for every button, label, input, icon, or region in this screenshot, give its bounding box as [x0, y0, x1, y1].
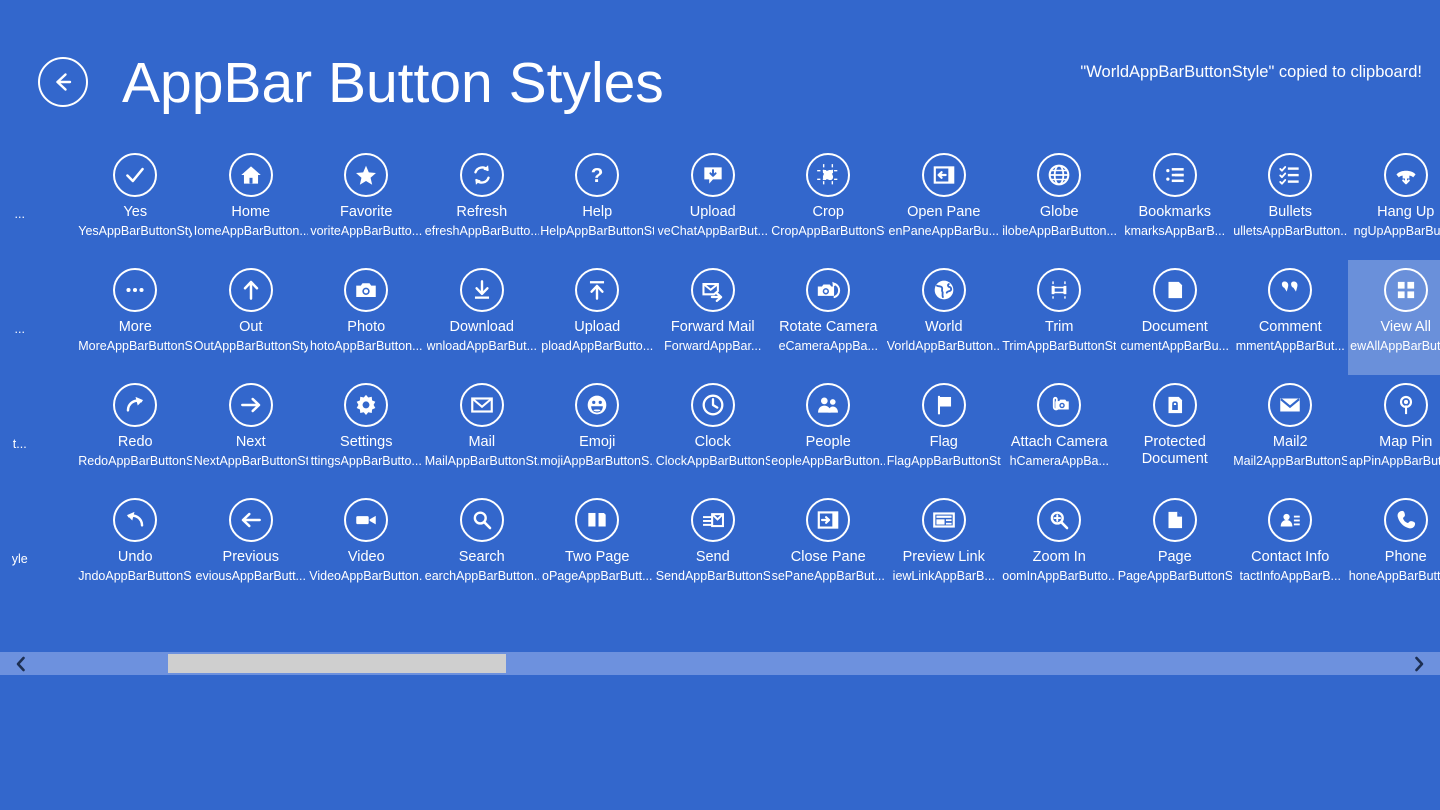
chevron-left-icon[interactable]	[0, 652, 42, 675]
redo-icon	[113, 383, 157, 427]
zoom-in-icon	[1037, 498, 1081, 542]
live-chat-icon	[691, 153, 735, 197]
icon-cell-label: Video	[348, 549, 385, 566]
icon-cell-yes[interactable]: YesYesAppBarButtonStyle	[78, 145, 194, 260]
comment-icon	[1268, 268, 1312, 312]
icon-cell-people[interactable]: PeopleeopleAppBarButton...	[771, 375, 887, 490]
icon-cell-style-name: hCameraAppBa...	[1010, 454, 1109, 469]
icon-cell-style-name: ttingsAppBarButto...	[311, 454, 422, 469]
icon-cell-label: Search	[459, 549, 505, 566]
icon-cell-style-name: oomInAppBarButto...	[1002, 569, 1116, 584]
icon-cell-trim[interactable]: TrimTrimAppBarButtonSt...	[1002, 260, 1118, 375]
icon-cell-mail[interactable]: MailMailAppBarButtonSt...	[424, 375, 540, 490]
icon-cell-style-name: VorldAppBarButton...	[887, 339, 1001, 354]
icon-cell-rotate-camera[interactable]: Rotate CameraeCameraAppBa...	[771, 260, 887, 375]
attach-camera-icon	[1037, 383, 1081, 427]
hang-up-icon	[1384, 153, 1428, 197]
icon-cell-label: Next	[236, 434, 266, 451]
icon-cell-style-name: SendAppBarButtonSt...	[656, 569, 770, 584]
icon-cell-label: Trim	[1045, 319, 1073, 336]
icon-cell-download[interactable]: DownloadwnloadAppBarBut...	[424, 260, 540, 375]
icon-cell-style-name: kmarksAppBarB...	[1124, 224, 1225, 239]
icon-cell-undo[interactable]: UndoJndoAppBarButtonS...	[78, 490, 194, 605]
icon-cell-style-name: tactInfoAppBarB...	[1240, 569, 1341, 584]
icon-cell-protected-document[interactable]: Protected Document	[1117, 375, 1233, 490]
icon-cell-label: Crop	[813, 204, 844, 221]
back-button[interactable]	[38, 57, 88, 107]
globe-icon	[1037, 153, 1081, 197]
previous-arrow-icon	[229, 498, 273, 542]
scrollbar-thumb[interactable]	[168, 654, 506, 673]
icon-cell-mail2[interactable]: Mail2Mail2AppBarButtonS...	[1233, 375, 1349, 490]
icon-cell-label: Clock	[695, 434, 731, 451]
icon-cell-label: Refresh	[456, 204, 507, 221]
icon-cell-style-name: veChatAppBarBut...	[658, 224, 768, 239]
people-icon	[806, 383, 850, 427]
icon-cell-style-name: ...	[15, 207, 25, 222]
next-arrow-icon	[229, 383, 273, 427]
icon-cell-label: People	[806, 434, 851, 451]
icon-cell-settings[interactable]: SettingsttingsAppBarButto...	[309, 375, 425, 490]
icon-cell-cell[interactable]: ...	[0, 145, 78, 260]
icon-cell-map-pin[interactable]: Map PinapPinAppBarButto...	[1348, 375, 1440, 490]
phone-icon	[1384, 498, 1428, 542]
two-page-icon	[575, 498, 619, 542]
map-pin-icon	[1384, 383, 1428, 427]
icon-cell-label: Settings	[340, 434, 392, 451]
icon-cell-zoom-in[interactable]: Zoom InoomInAppBarButto...	[1002, 490, 1118, 605]
icon-cell-style-name: hotoAppBarButton...	[310, 339, 423, 354]
icon-cell-two-page[interactable]: Two PageoPageAppBarButt...	[540, 490, 656, 605]
icon-grid-row: t...RedoRedoAppBarButtonS...NextNextAppB…	[0, 375, 1440, 490]
icon-cell-view-all[interactable]: View AllewAllAppBarButto...	[1348, 260, 1440, 375]
icon-cell-contact-info[interactable]: Contact InfotactInfoAppBarB...	[1233, 490, 1349, 605]
icon-cell-style-name: NextAppBarButtonSt...	[194, 454, 308, 469]
icon-cell-label: Hang Up	[1377, 204, 1434, 221]
world-icon	[922, 268, 966, 312]
icon-cell-label: Yes	[123, 204, 147, 221]
crop-icon	[806, 153, 850, 197]
icon-cell-label: Phone	[1385, 549, 1427, 566]
icon-cell-style-name: ewAllAppBarButto...	[1350, 339, 1440, 354]
icon-cell-label: Upload	[690, 204, 736, 221]
contact-info-icon	[1268, 498, 1312, 542]
icon-cell-clock[interactable]: ClockClockAppBarButtonS...	[655, 375, 771, 490]
icon-cell-style-name: honeAppBarButton...	[1349, 569, 1440, 584]
icon-cell-upload[interactable]: UploadploadAppBarButto...	[540, 260, 656, 375]
icon-cell-t[interactable]: t...	[0, 375, 78, 490]
icon-cell-refresh[interactable]: RefreshefreshAppBarButto...	[424, 145, 540, 260]
icon-cell-more[interactable]: MoreMoreAppBarButtonS...	[78, 260, 194, 375]
forward-mail-icon	[691, 268, 735, 312]
scrollbar-track[interactable]	[42, 652, 1398, 675]
icon-cell-label: Previous	[223, 549, 279, 566]
icon-cell-label: Bullets	[1268, 204, 1312, 221]
undo-icon	[113, 498, 157, 542]
icon-cell-out[interactable]: OutOutAppBarButtonStyle	[193, 260, 309, 375]
search-icon	[460, 498, 504, 542]
icon-cell-style-name: t...	[13, 437, 27, 452]
icon-cell-style-name: ulletsAppBarButton...	[1233, 224, 1347, 239]
star-icon	[344, 153, 388, 197]
bookmarks-icon	[1153, 153, 1197, 197]
icon-cell-style-name: sePaneAppBarBut...	[772, 569, 885, 584]
icon-cell-label: Emoji	[579, 434, 615, 451]
icon-cell-label: View All	[1380, 319, 1431, 336]
icon-cell-previous[interactable]: PreviouseviousAppBarButt...	[193, 490, 309, 605]
icon-cell-style-name: OutAppBarButtonStyle	[194, 339, 308, 354]
icon-cell-label: Zoom In	[1033, 549, 1086, 566]
trim-icon	[1037, 268, 1081, 312]
open-pane-icon	[922, 153, 966, 197]
icon-cell-style-name: VideoAppBarButton...	[309, 569, 423, 584]
horizontal-scrollbar[interactable]	[0, 652, 1440, 675]
icon-cell-label: Mail	[468, 434, 495, 451]
icon-cell-label: Favorite	[340, 204, 392, 221]
icon-cell-label: Out	[239, 319, 262, 336]
icon-cell-label: Protected Document	[1119, 434, 1231, 468]
icon-cell-style-name: ForwardAppBar...	[664, 339, 761, 354]
icon-cell-label: Help	[582, 204, 612, 221]
bullets-icon	[1268, 153, 1312, 197]
home-icon	[229, 153, 273, 197]
icon-cell-label: Download	[450, 319, 515, 336]
icon-cell-style-name: PageAppBarButtonSt...	[1118, 569, 1232, 584]
icon-cell-label: Attach Camera	[1011, 434, 1108, 451]
video-icon	[344, 498, 388, 542]
send-icon	[691, 498, 735, 542]
more-icon	[113, 268, 157, 312]
icon-cell-style-name: ploadAppBarButto...	[541, 339, 653, 354]
icon-cell-style-name: CropAppBarButtonSt...	[771, 224, 885, 239]
icon-cell-label: Map Pin	[1379, 434, 1432, 451]
icon-cell-label: Undo	[118, 549, 153, 566]
icon-cell-bookmarks[interactable]: BookmarkskmarksAppBarB...	[1117, 145, 1233, 260]
icon-cell-label: Globe	[1040, 204, 1079, 221]
preview-link-icon	[922, 498, 966, 542]
close-pane-icon	[806, 498, 850, 542]
icon-cell-label: Comment	[1259, 319, 1322, 336]
icon-cell-style-name: efreshAppBarButto...	[425, 224, 539, 239]
icon-cell-style-name: eviousAppBarButt...	[196, 569, 306, 584]
icon-cell-forward-mail[interactable]: Forward MailForwardAppBar...	[655, 260, 771, 375]
view-all-icon	[1384, 268, 1428, 312]
icon-cell-hang-up[interactable]: Hang UpngUpAppBarButt...	[1348, 145, 1440, 260]
icon-cell-style-name: FlagAppBarButtonSt...	[887, 454, 1001, 469]
icon-cell-close-pane[interactable]: Close PanesePaneAppBarBut...	[771, 490, 887, 605]
icon-cell-label: Bookmarks	[1138, 204, 1211, 221]
mail-icon	[460, 383, 504, 427]
icon-cell-style-name: iewLinkAppBarB...	[893, 569, 995, 584]
icon-cell-style-name: JndoAppBarButtonS...	[78, 569, 192, 584]
icon-cell-send[interactable]: SendSendAppBarButtonSt...	[655, 490, 771, 605]
icon-cell-style-name: yle	[12, 552, 28, 567]
icon-cell-style-name: MoreAppBarButtonS...	[78, 339, 192, 354]
icon-cell-style-name: ngUpAppBarButt...	[1354, 224, 1440, 239]
icon-cell-style-name: HelpAppBarButtonSt...	[540, 224, 654, 239]
protected-document-icon	[1153, 383, 1197, 427]
chevron-right-icon[interactable]	[1398, 652, 1440, 675]
icon-cell-label: World	[925, 319, 963, 336]
icon-cell-crop[interactable]: CropCropAppBarButtonSt...	[771, 145, 887, 260]
download-icon	[460, 268, 504, 312]
icon-cell-globe[interactable]: GlobeilobeAppBarButton...	[1002, 145, 1118, 260]
icon-grid-row: ...YesYesAppBarButtonStyleHomeIomeAppBar…	[0, 145, 1440, 260]
icon-cell-label: Document	[1142, 319, 1208, 336]
icon-cell-label: Upload	[574, 319, 620, 336]
appbar-button-styles-page: AppBar Button Styles "WorldAppBarButtonS…	[0, 0, 1440, 810]
icon-cell-style-name: earchAppBarButton...	[425, 569, 539, 584]
icon-cell-style-name: eCameraAppBa...	[779, 339, 878, 354]
refresh-icon	[460, 153, 504, 197]
icon-grid-row: ...MoreMoreAppBarButtonS...OutOutAppBarB…	[0, 260, 1440, 375]
upload-icon	[575, 268, 619, 312]
icon-cell-yle[interactable]: yle	[0, 490, 78, 605]
icon-cell-label: Close Pane	[791, 549, 866, 566]
icon-cell-style-name: ClockAppBarButtonS...	[656, 454, 770, 469]
icon-cell-style-name: enPaneAppBarBu...	[889, 224, 1000, 239]
icon-cell-label: Forward Mail	[671, 319, 755, 336]
icon-cell-label: Send	[696, 549, 730, 566]
icon-cell-style-name: voriteAppBarButto...	[310, 224, 422, 239]
icon-cell-label: Preview Link	[903, 549, 985, 566]
icon-cell-label: Rotate Camera	[779, 319, 877, 336]
icon-cell-label: Flag	[930, 434, 958, 451]
icon-cell-style-name: MailAppBarButtonSt...	[425, 454, 539, 469]
icon-cell-emoji[interactable]: EmojimojiAppBarButtonS...	[540, 375, 656, 490]
icon-cell-home[interactable]: HomeIomeAppBarButton...	[193, 145, 309, 260]
icon-cell-upload[interactable]: UploadveChatAppBarBut...	[655, 145, 771, 260]
icon-cell-style-name: ...	[15, 322, 25, 337]
icon-cell-style-name: IomeAppBarButton...	[194, 224, 308, 239]
icon-cell-favorite[interactable]: FavoritevoriteAppBarButto...	[309, 145, 425, 260]
clipboard-toast: "WorldAppBarButtonStyle" copied to clipb…	[1080, 63, 1422, 82]
icon-cell-open-pane[interactable]: Open PaneenPaneAppBarBu...	[886, 145, 1002, 260]
icon-cell-document[interactable]: DocumentcumentAppBarBu...	[1117, 260, 1233, 375]
mail2-icon	[1268, 383, 1312, 427]
emoji-icon	[575, 383, 619, 427]
icon-cell-comment[interactable]: CommentmmentAppBarBut...	[1233, 260, 1349, 375]
check-icon	[113, 153, 157, 197]
icon-cell-page[interactable]: PagePageAppBarButtonSt...	[1117, 490, 1233, 605]
icon-cell-style-name: oPageAppBarButt...	[542, 569, 653, 584]
icon-cell-label: Two Page	[565, 549, 630, 566]
clock-icon	[691, 383, 735, 427]
icon-cell-preview-link[interactable]: Preview LinkiewLinkAppBarB...	[886, 490, 1002, 605]
icon-cell-label: Contact Info	[1251, 549, 1329, 566]
icon-cell-phone[interactable]: PhonehoneAppBarButton...	[1348, 490, 1440, 605]
icon-cell-style-name: cumentAppBarBu...	[1121, 339, 1229, 354]
icon-cell-style-name: YesAppBarButtonStyle	[78, 224, 192, 239]
icon-cell-label: Mail2	[1273, 434, 1308, 451]
icon-cell-style-name: RedoAppBarButtonS...	[78, 454, 192, 469]
question-icon: ?	[575, 153, 619, 197]
icon-cell-style-name: Mail2AppBarButtonS...	[1233, 454, 1347, 469]
page-icon	[1153, 498, 1197, 542]
icon-cell-style-name: TrimAppBarButtonSt...	[1002, 339, 1116, 354]
icon-cell-search[interactable]: SearchearchAppBarButton...	[424, 490, 540, 605]
icon-cell-style-name: apPinAppBarButto...	[1349, 454, 1440, 469]
icon-cell-attach-camera[interactable]: Attach CamerahCameraAppBa...	[1002, 375, 1118, 490]
icon-cell-cell[interactable]: ...	[0, 260, 78, 375]
icon-cell-label: Home	[231, 204, 270, 221]
icon-cell-redo[interactable]: RedoRedoAppBarButtonS...	[78, 375, 194, 490]
page-header: AppBar Button Styles "WorldAppBarButtonS…	[0, 0, 1440, 145]
icon-grid-row: yleUndoJndoAppBarButtonS...Previouseviou…	[0, 490, 1440, 605]
icon-cell-label: Page	[1158, 549, 1192, 566]
icon-cell-flag[interactable]: FlagFlagAppBarButtonSt...	[886, 375, 1002, 490]
icon-cell-photo[interactable]: PhotohotoAppBarButton...	[309, 260, 425, 375]
icon-cell-video[interactable]: VideoVideoAppBarButton...	[309, 490, 425, 605]
icon-cell-style-name: mojiAppBarButtonS...	[540, 454, 654, 469]
svg-text:?: ?	[591, 164, 604, 187]
icon-cell-bullets[interactable]: BulletsulletsAppBarButton...	[1233, 145, 1349, 260]
gear-icon	[344, 383, 388, 427]
rotate-camera-icon	[806, 268, 850, 312]
document-icon	[1153, 268, 1197, 312]
icon-grid: ...YesYesAppBarButtonStyleHomeIomeAppBar…	[0, 145, 1440, 645]
camera-icon	[344, 268, 388, 312]
icon-cell-style-name: eopleAppBarButton...	[771, 454, 885, 469]
icon-cell-style-name: ilobeAppBarButton...	[1002, 224, 1116, 239]
page-bottom-area	[0, 675, 1440, 810]
icon-cell-help[interactable]: ?HelpHelpAppBarButtonSt...	[540, 145, 656, 260]
flag-icon	[922, 383, 966, 427]
icon-cell-style-name: wnloadAppBarBut...	[427, 339, 538, 354]
out-arrow-icon	[229, 268, 273, 312]
icon-cell-label: Open Pane	[907, 204, 980, 221]
icon-cell-style-name: mmentAppBarBut...	[1236, 339, 1345, 354]
icon-cell-label: Photo	[347, 319, 385, 336]
icon-cell-label: More	[119, 319, 152, 336]
icon-cell-label: Redo	[118, 434, 153, 451]
page-title: AppBar Button Styles	[122, 50, 664, 116]
icon-cell-world[interactable]: WorldVorldAppBarButton...	[886, 260, 1002, 375]
icon-cell-next[interactable]: NextNextAppBarButtonSt...	[193, 375, 309, 490]
